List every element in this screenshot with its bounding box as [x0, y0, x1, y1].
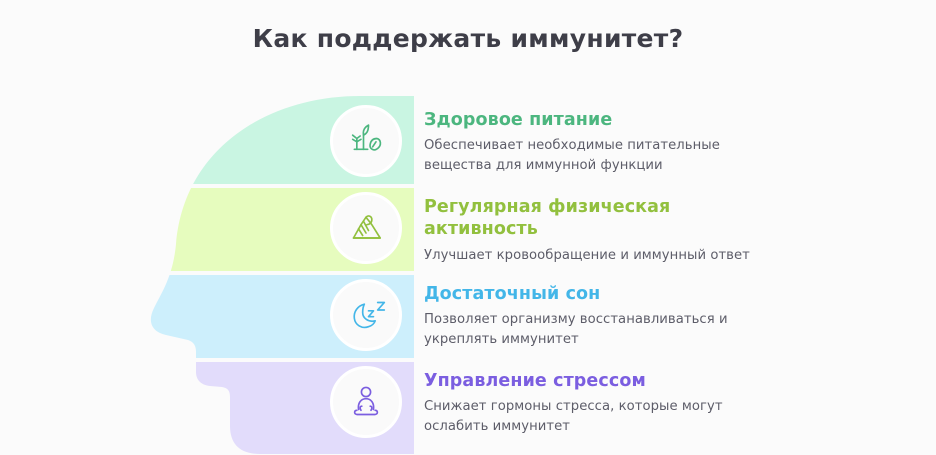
meditation-person-icon — [346, 382, 386, 422]
meditation-person-icon-badge — [330, 366, 402, 438]
list-item-texts: Достаточный сон Позволяет организму восс… — [424, 279, 769, 349]
infographic-canvas: Как поддержать иммунитет? — [0, 0, 936, 455]
list-item-title: Здоровое питание — [424, 109, 769, 131]
list-item-texts: Управление стрессом Снижает гормоны стре… — [424, 366, 769, 436]
page-title: Как поддержать иммунитет? — [0, 24, 936, 53]
list-item[interactable]: Здоровое питание Обеспечивает необходимы… — [330, 105, 930, 177]
list-item[interactable]: Достаточный сон Позволяет организму восс… — [330, 279, 930, 351]
running-shoe-icon-badge — [330, 192, 402, 264]
list-item-texts: Регулярная физическая активность Улучшае… — [424, 192, 769, 265]
plant-leaf-icon — [346, 121, 386, 161]
moon-sleep-icon-badge — [330, 279, 402, 351]
list-item[interactable]: Регулярная физическая активность Улучшае… — [330, 192, 930, 265]
plant-leaf-icon-badge — [330, 105, 402, 177]
list-item-title: Достаточный сон — [424, 283, 769, 305]
benefit-list: Здоровое питание Обеспечивает необходимы… — [330, 96, 930, 455]
running-shoe-icon — [346, 208, 386, 248]
list-item-title: Регулярная физическая активность — [424, 196, 769, 241]
list-item-description: Обеспечивает необходимые питательные вещ… — [424, 136, 769, 174]
list-item-title: Управление стрессом — [424, 370, 769, 392]
list-item-texts: Здоровое питание Обеспечивает необходимы… — [424, 105, 769, 175]
list-item[interactable]: Управление стрессом Снижает гормоны стре… — [330, 366, 930, 438]
list-item-description: Улучшает кровообращение и иммунный ответ — [424, 246, 769, 265]
list-item-description: Снижает гормоны стресса, которые могут о… — [424, 397, 769, 435]
list-item-description: Позволяет организму восстанавливаться и … — [424, 310, 769, 348]
moon-sleep-icon — [346, 295, 386, 335]
